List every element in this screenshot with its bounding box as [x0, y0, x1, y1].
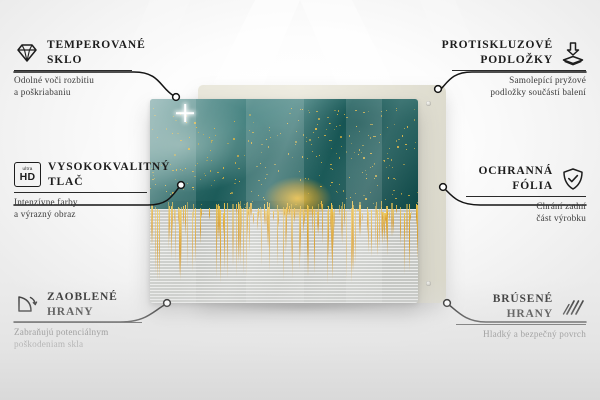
callout-title: TEMPEROVANÉ SKLO: [47, 38, 146, 67]
callout-subtitle: Odolné voči rozbitiu a poškriabaniu: [14, 75, 139, 98]
callout-anti-slip-pads: PROTISKLUZOVÉ PODLOŽKY Samolepící pryžov…: [452, 38, 586, 98]
diagonal-lines-icon: [560, 294, 586, 320]
callout-title: BRÚSENÉ HRANY: [456, 292, 553, 321]
pad-stack-arrow-icon: [560, 40, 586, 66]
callout-divider: [452, 70, 586, 71]
callout-divider: [456, 324, 586, 325]
callout-header: ultra HD VYSOKOKVALITNÝ TLAČ: [14, 160, 150, 189]
callout-title: ZAOBLENÉ HRANY: [47, 290, 118, 319]
callout-divider: [14, 70, 132, 71]
callout-header: PROTISKLUZOVÉ PODLOŽKY: [452, 38, 586, 67]
callout-header: ZAOBLENÉ HRANY: [14, 290, 146, 319]
callout-title: OCHRANNÁ FÓLIA: [466, 164, 553, 193]
callout-divider: [466, 196, 586, 197]
callout-divider: [14, 192, 147, 193]
callout-title: PROTISKLUZOVÉ PODLOŽKY: [442, 38, 553, 67]
callout-header: OCHRANNÁ FÓLIA: [466, 164, 586, 193]
callout-subtitle: Zabraňujú potenciálnym poškodeniam skla: [14, 327, 146, 350]
ultra-hd-icon: ultra HD: [14, 162, 41, 187]
anti-slip-pad: [426, 101, 431, 106]
callout-header: TEMPEROVANÉ SKLO: [14, 38, 139, 67]
callout-polished-edges: BRÚSENÉ HRANY Hladký a bezpečný povrch: [456, 292, 586, 341]
callout-subtitle: Samolepící pryžové podložky součástí bal…: [452, 75, 586, 98]
anti-slip-pad: [426, 281, 431, 286]
callout-subtitle: Hladký a bezpečný povrch: [456, 329, 586, 341]
callout-divider: [14, 322, 142, 323]
callout-subtitle: Chrání zadní část výrobku: [466, 201, 586, 224]
diamond-icon: [14, 40, 40, 66]
callout-header: BRÚSENÉ HRANY: [456, 292, 586, 321]
callout-subtitle: Intenzívne farby a výrazný obraz: [14, 197, 150, 220]
shield-check-icon: [560, 166, 586, 192]
artwork: [150, 99, 418, 303]
callout-rounded-edges: ZAOBLENÉ HRANY Zabraňujú potenciálnym po…: [14, 290, 146, 350]
callout-high-quality-print: ultra HD VYSOKOKVALITNÝ TLAČ Intenzívne …: [14, 160, 150, 220]
callout-title: VYSOKOKVALITNÝ TLAČ: [48, 160, 170, 189]
callout-protective-film: OCHRANNÁ FÓLIA Chrání zadní část výrobku: [466, 164, 586, 224]
rounded-corner-icon: [14, 292, 40, 318]
infographic-canvas: TEMPEROVANÉ SKLO Odolné voči rozbitiu a …: [0, 0, 600, 400]
product-image: [150, 85, 450, 317]
callout-tempered-glass: TEMPEROVANÉ SKLO Odolné voči rozbitiu a …: [14, 38, 139, 98]
glass-panel: [150, 99, 418, 303]
